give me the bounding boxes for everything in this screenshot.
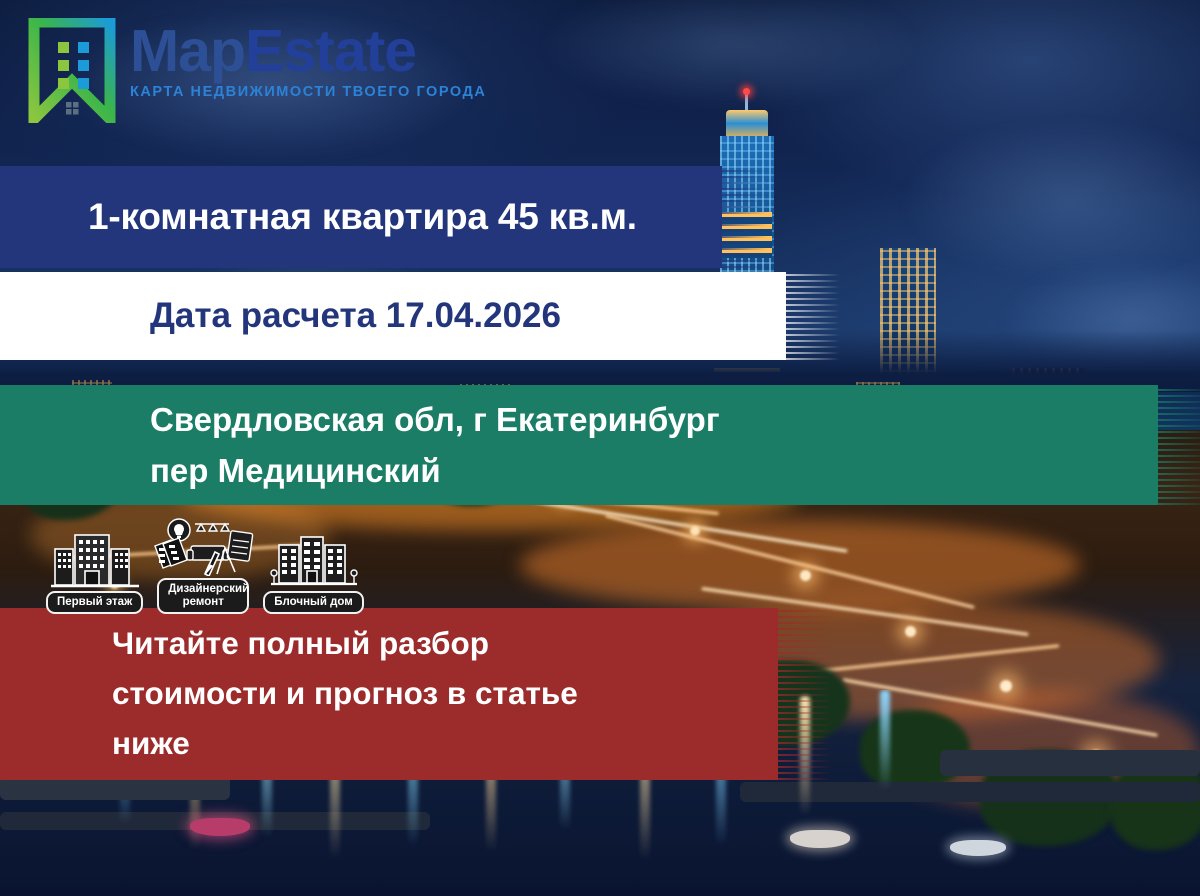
promenade (940, 750, 1200, 776)
badge-first-floor: Первый этаж (46, 531, 143, 614)
boat (950, 840, 1006, 856)
address-line-2: пер Медицинский (150, 445, 1158, 496)
cta-text: Читайте полный разбор стоимости и прогно… (0, 619, 778, 768)
calculation-date-banner: Дата расчета 17.04.2026 (0, 272, 786, 360)
boat (790, 830, 850, 848)
brand-tagline: КАРТА НЕДВИЖИМОСТИ ТВОЕГО ГОРОДА (130, 84, 486, 100)
property-title-banner: 1-комнатная квартира 45 кв.м. (0, 166, 722, 268)
badge-label: Дизайнерский ремонт (157, 578, 249, 614)
badge-label: Первый этаж (46, 591, 143, 614)
cta-line-3: ниже (112, 719, 760, 769)
design-renovation-icon (151, 518, 255, 576)
calculation-date-text: Дата расчета 17.04.2026 (0, 296, 786, 336)
brand-logo[interactable]: MapEstate КАРТА НЕДВИЖИМОСТИ ТВОЕГО ГОРО… (28, 18, 486, 123)
badge-block-house: Блочный дом (263, 531, 364, 614)
cta-line-1: Читайте полный разбор (112, 619, 760, 669)
bookmark-building-logo-icon (28, 18, 116, 123)
property-title-text: 1-комнатная квартира 45 кв.м. (0, 196, 722, 238)
badge-designer-renovation: Дизайнерский ремонт (151, 518, 255, 614)
cta-line-2: стоимости и прогноз в статье (112, 669, 760, 719)
cta-banner[interactable]: Читайте полный разбор стоимости и прогно… (0, 608, 778, 780)
badge-label: Блочный дом (263, 591, 364, 614)
block-apartment-building-icon (267, 531, 361, 589)
office-building-icon (49, 531, 141, 589)
feature-badges: Первый этаж (46, 518, 364, 614)
address-line-1: Свердловская обл, г Екатеринбург (150, 394, 1158, 445)
brand-name-part1: Map (130, 18, 245, 84)
address-banner: Свердловская обл, г Екатеринбург пер Мед… (0, 385, 1158, 505)
boat (190, 818, 250, 836)
brand-name: MapEstate (130, 24, 486, 79)
address-text: Свердловская обл, г Екатеринбург пер Мед… (0, 394, 1158, 496)
brand-name-part2: Estate (245, 18, 416, 84)
